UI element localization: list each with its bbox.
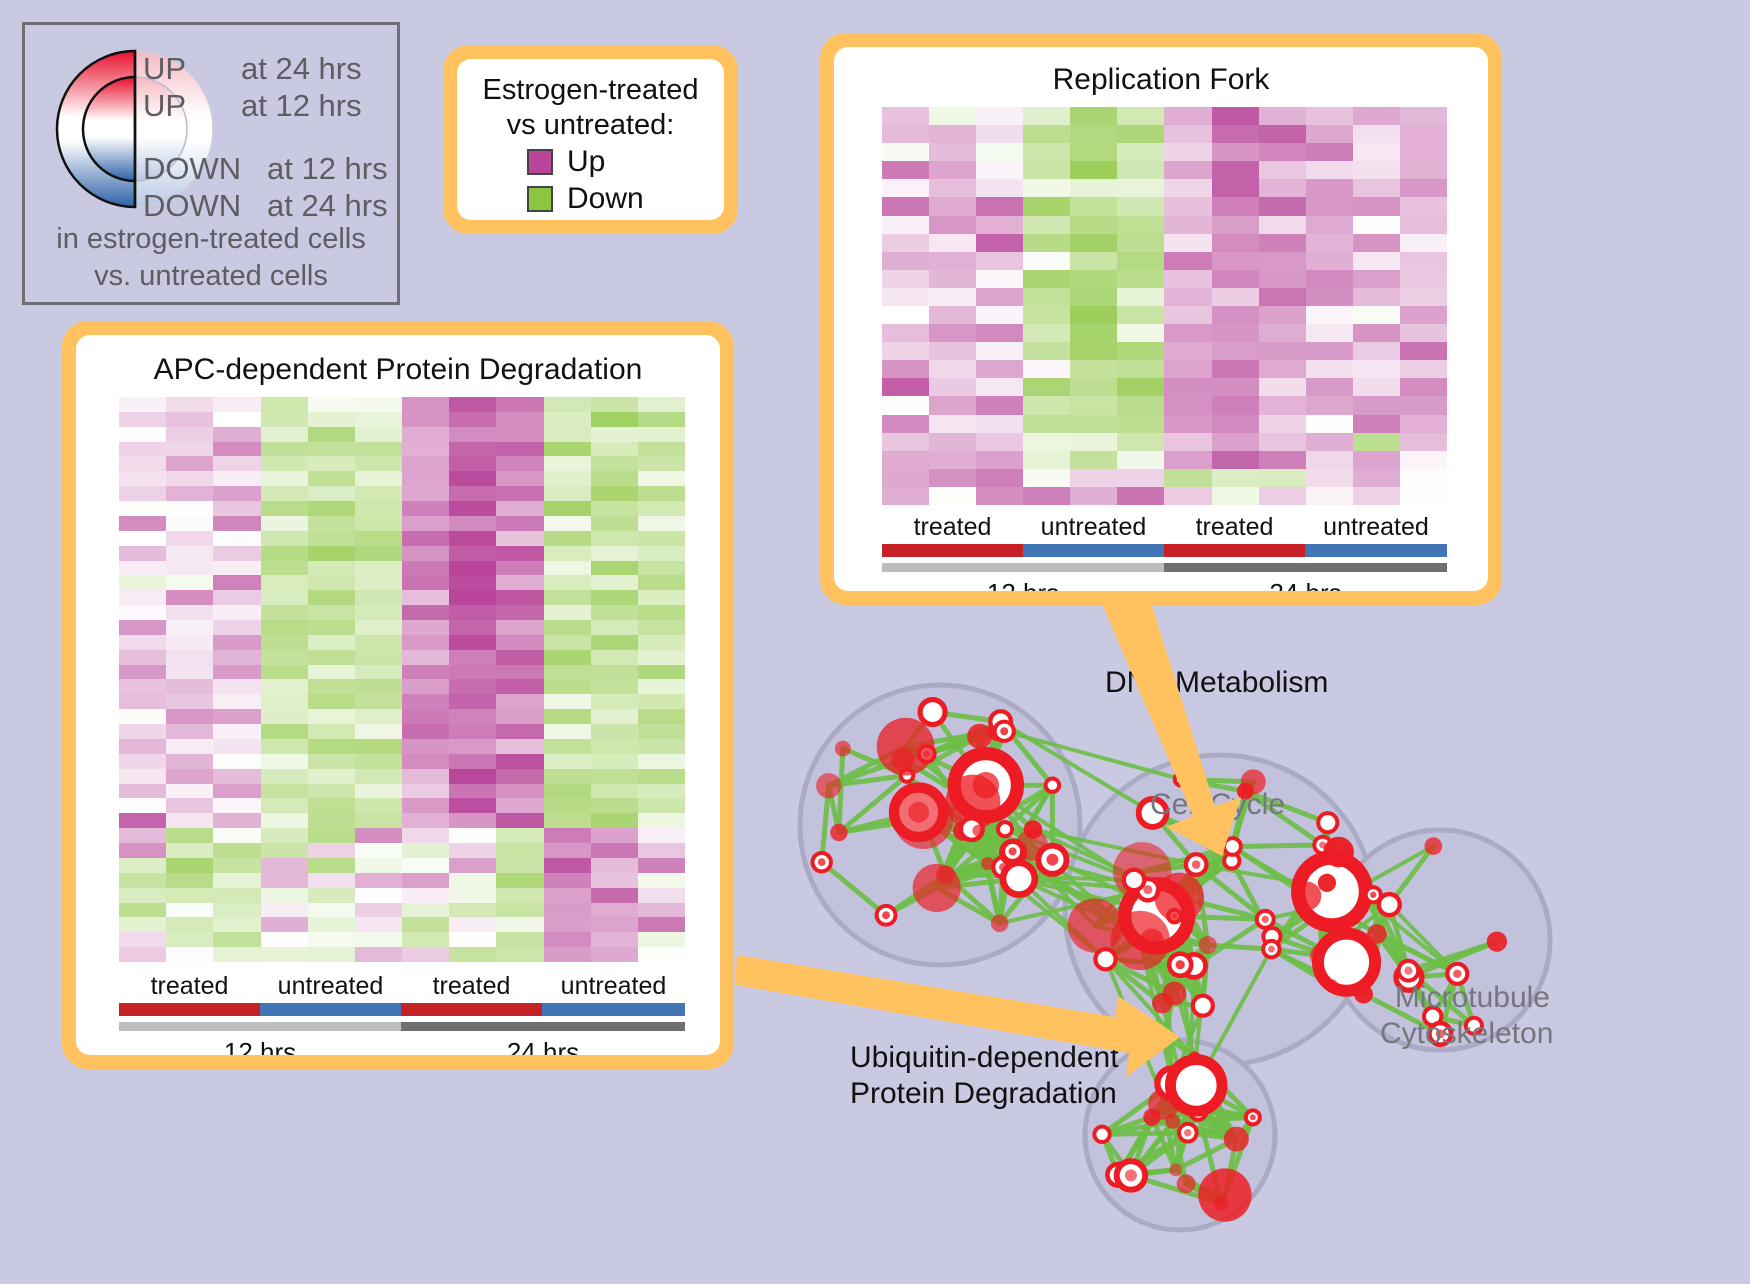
legend-label-up: Up (567, 147, 605, 177)
legend-heading: Estrogen-treated vs untreated: (457, 73, 724, 143)
group-label-2: treated (401, 972, 542, 1001)
cluster-label-dna-metabolism: DNA Metabolism (1105, 665, 1328, 701)
group-label-3: untreated (1305, 513, 1447, 542)
key-value-0: UP (143, 51, 186, 87)
apc-degradation-inner: APC-dependent Protein Degradation treate… (76, 335, 720, 1055)
group-label-2: treated (1164, 513, 1305, 542)
group-bar-0 (119, 1003, 260, 1016)
key-time-0: at 24 hrs (241, 51, 362, 87)
heatmap-grid (882, 107, 1447, 505)
key-time-2: at 12 hrs (267, 151, 388, 187)
time-label-0: 12 hrs (882, 578, 1164, 591)
group-bar-3 (542, 1003, 685, 1016)
key-time-3: at 24 hrs (267, 188, 388, 224)
key-value-3: DOWN (143, 188, 241, 224)
time-label-1: 24 hrs (1164, 578, 1447, 591)
group-bar-2 (1164, 544, 1305, 557)
group-label-3: untreated (542, 972, 685, 1001)
key-footer: in estrogen-treated cells vs. untreated … (25, 221, 397, 295)
group-bar-1 (260, 1003, 401, 1016)
legend-heading-line2: vs untreated: (457, 108, 724, 143)
group-bar-2 (401, 1003, 542, 1016)
group-label-0: treated (119, 972, 260, 1001)
heatmap-replication-fork (882, 107, 1447, 505)
panel-title-apc: APC-dependent Protein Degradation (76, 353, 720, 387)
color-key-box: UP at 24 hrs UP at 12 hrs DOWN at 12 hrs… (22, 22, 400, 305)
time-bar-0 (882, 563, 1164, 572)
replication-fork-panel: Replication Fork treated untreated treat… (820, 33, 1502, 605)
heatmap-grid (119, 397, 685, 962)
time-label-1: 24 hrs (401, 1037, 685, 1055)
time-bar-1 (401, 1022, 685, 1031)
cluster-label-cell-cycle: Cell Cycle (1150, 787, 1285, 823)
heatmap-apc-degradation (119, 397, 685, 962)
time-bar-0 (119, 1022, 401, 1031)
time-label-0: 12 hrs (119, 1037, 401, 1055)
group-label-1: untreated (260, 972, 401, 1001)
time-bar-1 (1164, 563, 1447, 572)
key-footer-line2: vs. untreated cells (25, 258, 397, 295)
cluster-label-microtubule-cytoskeleton: Microtubule Cytoskeleton (1380, 980, 1550, 1052)
key-footer-line1: in estrogen-treated cells (25, 221, 397, 258)
legend-swatch-down (527, 186, 553, 212)
apc-degradation-panel: APC-dependent Protein Degradation treate… (62, 321, 734, 1069)
group-bar-1 (1023, 544, 1164, 557)
group-label-0: treated (882, 513, 1023, 542)
key-value-1: UP (143, 88, 186, 124)
legend-panel-inner: Estrogen-treated vs untreated: Up Down (457, 59, 724, 220)
figure-canvas: UP at 24 hrs UP at 12 hrs DOWN at 12 hrs… (0, 0, 1750, 1279)
key-value-2: DOWN (143, 151, 241, 187)
panel-title-replication-fork: Replication Fork (834, 63, 1488, 97)
key-time-1: at 12 hrs (241, 88, 362, 124)
legend-item-down: Down (527, 184, 644, 214)
network-diagram: DNA Metabolism Cell Cycle Microtubule Cy… (780, 610, 1750, 1279)
group-bar-0 (882, 544, 1023, 557)
replication-fork-inner: Replication Fork treated untreated treat… (834, 47, 1488, 591)
group-label-1: untreated (1023, 513, 1164, 542)
legend-label-down: Down (567, 184, 644, 214)
legend-heading-line1: Estrogen-treated (457, 73, 724, 108)
legend-item-up: Up (527, 147, 605, 177)
legend-panel: Estrogen-treated vs untreated: Up Down (443, 45, 738, 234)
group-bar-3 (1305, 544, 1447, 557)
cluster-label-ubiquitin-protein-degradation: Ubiquitin-dependent Protein Degradation (850, 1040, 1119, 1112)
network-graph (780, 610, 1750, 1279)
legend-swatch-up (527, 149, 553, 175)
